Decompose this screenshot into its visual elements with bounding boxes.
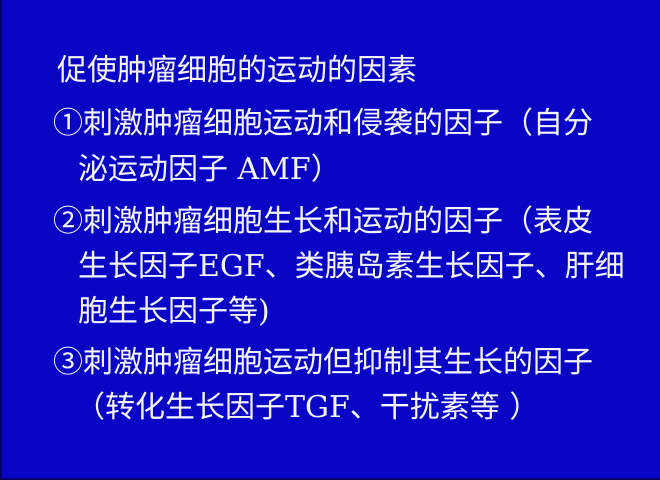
list-item-2-line-1: ②刺激肿瘤细胞生长和运动的因子（表皮 (53, 199, 593, 245)
list-item-3-line-1: ③刺激肿瘤细胞运动但抑制其生长的因子 (53, 340, 593, 386)
presentation-slide: 促使肿瘤细胞的运动的因素 ①刺激肿瘤细胞运动和侵袭的因子（自分 泌运动因子 AM… (0, 0, 660, 480)
list-item-2-line-2: 生长因子EGF、类胰岛素生长因子、肝细 (78, 244, 625, 290)
list-item-1-line-2: 泌运动因子 AMF） (78, 147, 341, 193)
list-item-1-line-1: ①刺激肿瘤细胞运动和侵袭的因子（自分 (53, 101, 593, 147)
list-item-2-line-3: 胞生长因子等) (78, 289, 270, 335)
list-item-3-line-2: （转化生长因子TGF、干扰素等 ） (75, 385, 539, 431)
slide-title: 促使肿瘤细胞的运动的因素 (57, 48, 417, 94)
